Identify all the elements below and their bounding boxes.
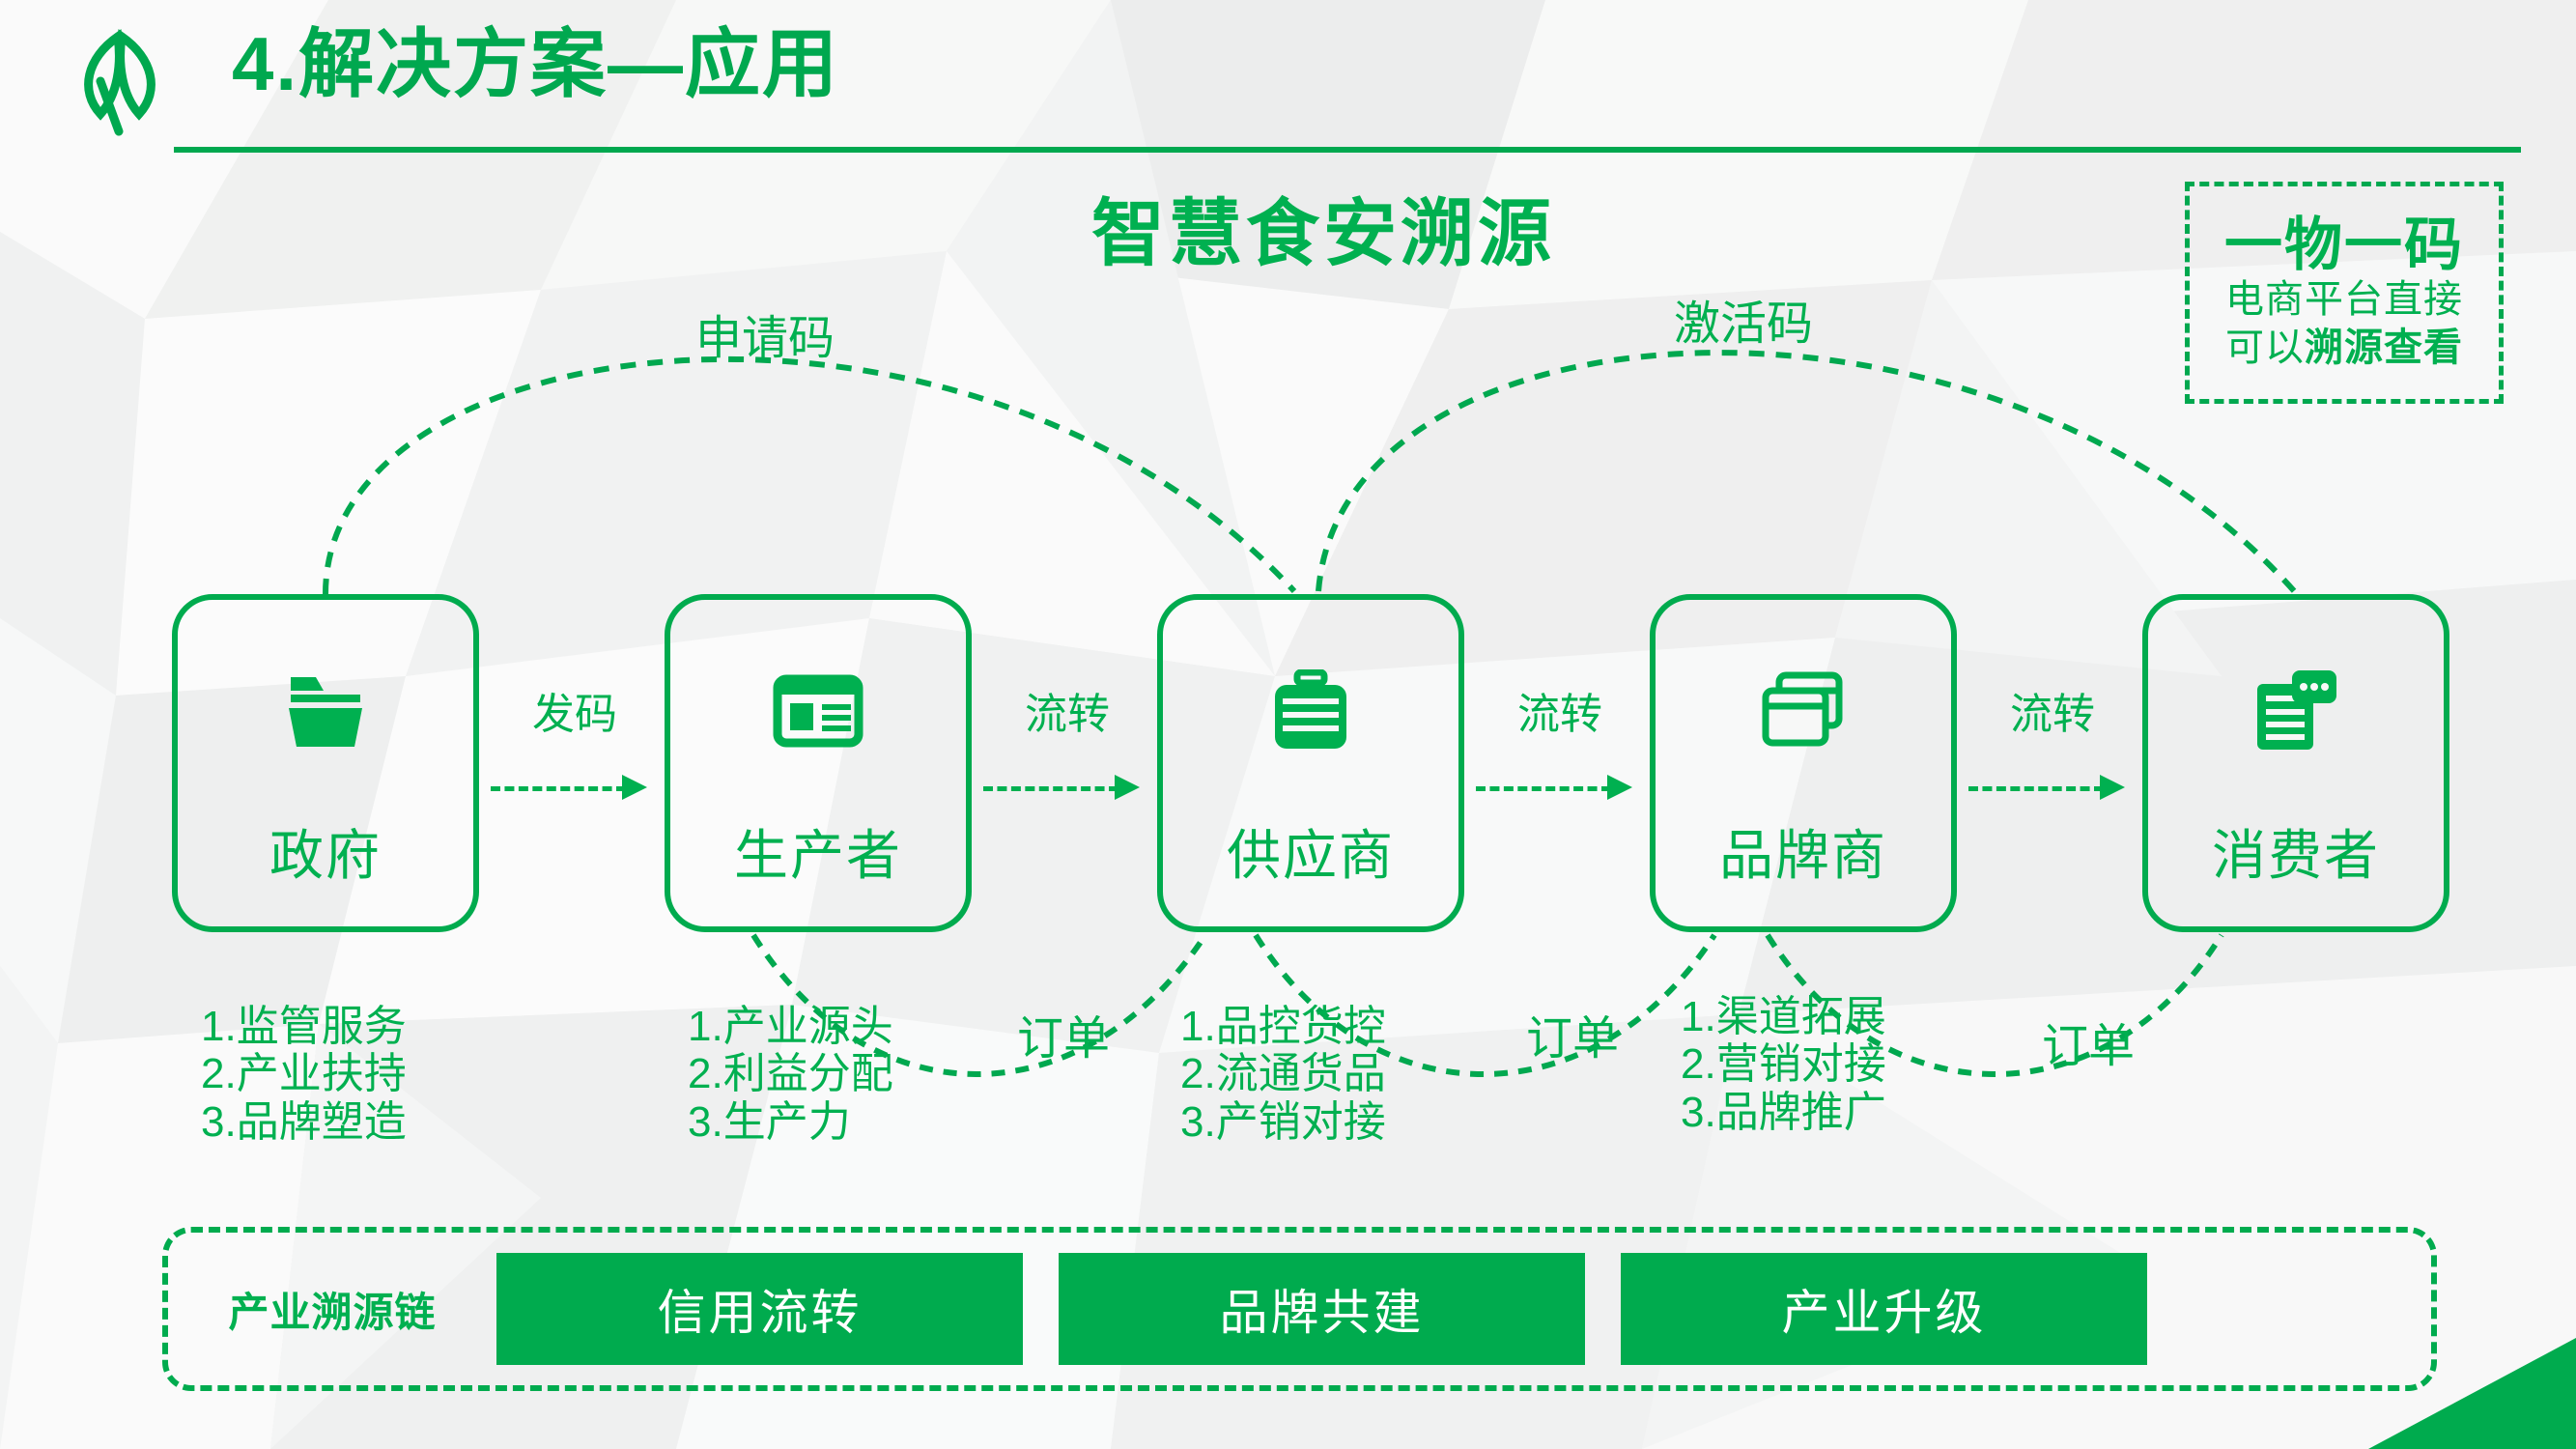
flow-label: 流转 (1961, 694, 2144, 736)
node-consumer[interactable]: 消费者 (2142, 594, 2449, 932)
arc-label-activate-code: 激活码 (1674, 285, 1813, 353)
one-item-one-code-callout: 一物一码 电商平台直接 可以溯源查看 (2185, 182, 2504, 404)
flow-arrow-1: 发码 (483, 694, 666, 808)
flow-label: 流转 (976, 694, 1159, 736)
node-label: 生产者 (734, 812, 902, 891)
slide-header: 4.解决方案—应用 (0, 0, 2576, 164)
arc-label-order-2: 订单 (1526, 1000, 1619, 1067)
briefcase-icon (1267, 669, 1354, 753)
list-item: 3.品牌推广 (1681, 1089, 1886, 1136)
flow-arrow-2: 流转 (976, 694, 1159, 808)
node-label: 供应商 (1227, 812, 1395, 891)
arc-label-apply-code: 申请码 (695, 299, 835, 367)
callout-headline: 一物一码 (2224, 214, 2464, 275)
node-brand-owner[interactable]: 品牌商 (1650, 594, 1957, 932)
callout-subline-2: 可以溯源查看 (2225, 324, 2463, 372)
list-item: 3.产销对接 (1180, 1098, 1386, 1146)
flow-label: 流转 (1468, 694, 1652, 736)
document-chat-icon (2251, 669, 2340, 753)
bullet-list-brand-owner: 1.渠道拓展 2.营销对接 3.品牌推广 (1681, 993, 1886, 1136)
flow-label: 发码 (483, 694, 666, 736)
flow-arrow-3: 流转 (1468, 694, 1652, 808)
node-label: 品牌商 (1719, 812, 1887, 891)
list-item: 1.产业源头 (688, 1003, 893, 1050)
node-label: 消费者 (2212, 812, 2380, 891)
arrow-right-icon (1961, 769, 2144, 808)
list-item: 2.产业扶持 (201, 1050, 407, 1097)
list-item: 3.生产力 (688, 1098, 893, 1146)
node-supplier[interactable]: 供应商 (1157, 594, 1464, 932)
bullet-list-government: 1.监管服务 2.产业扶持 3.品牌塑造 (201, 1003, 407, 1146)
node-label: 政府 (269, 812, 382, 891)
leaf-logo-icon (58, 17, 184, 143)
list-item: 2.利益分配 (688, 1050, 893, 1097)
arc-label-order-1: 订单 (1017, 1000, 1110, 1067)
bullet-list-supplier: 1.品控货控 2.流通货品 3.产销对接 (1180, 1003, 1386, 1146)
list-item: 1.品控货控 (1180, 1003, 1386, 1050)
list-item: 1.渠道拓展 (1681, 993, 1886, 1040)
list-item: 1.监管服务 (201, 1003, 407, 1050)
bullet-list-producer: 1.产业源头 2.利益分配 3.生产力 (688, 1003, 893, 1146)
arrow-right-icon (976, 769, 1159, 808)
traceability-chain-bar: 产业溯源链 信用流转 品牌共建 产业升级 (162, 1227, 2437, 1391)
folder-icon (281, 669, 370, 753)
callout-subline-2-strong: 溯源查看 (2305, 327, 2463, 369)
chain-bar-label: 产业溯源链 (168, 1280, 496, 1339)
arc-activate-code (1318, 353, 2297, 594)
header-divider (174, 147, 2521, 153)
page-title: 4.解决方案—应用 (232, 19, 839, 110)
node-producer[interactable]: 生产者 (665, 594, 972, 932)
flow-arrow-4: 流转 (1961, 694, 2144, 808)
list-item: 2.流通货品 (1180, 1050, 1386, 1097)
arc-label-order-3: 订单 (2042, 1008, 2135, 1075)
chain-button-brand-coop[interactable]: 品牌共建 (1059, 1253, 1585, 1365)
list-item: 3.品牌塑造 (201, 1098, 407, 1146)
stacked-windows-icon (1758, 669, 1849, 753)
callout-subline-2-prefix: 可以 (2225, 327, 2305, 369)
diagram-title: 智慧食安溯源 (1024, 174, 1623, 280)
callout-subline-1: 电商平台直接 (2225, 275, 2463, 324)
arrow-right-icon (483, 769, 666, 808)
chain-button-industry-upgrade[interactable]: 产业升级 (1621, 1253, 2147, 1365)
arrow-right-icon (1468, 769, 1652, 808)
arc-apply-code (326, 359, 1294, 594)
id-card-icon (772, 669, 864, 753)
node-government[interactable]: 政府 (172, 594, 479, 932)
list-item: 2.营销对接 (1681, 1040, 1886, 1088)
chain-button-credit-flow[interactable]: 信用流转 (496, 1253, 1023, 1365)
